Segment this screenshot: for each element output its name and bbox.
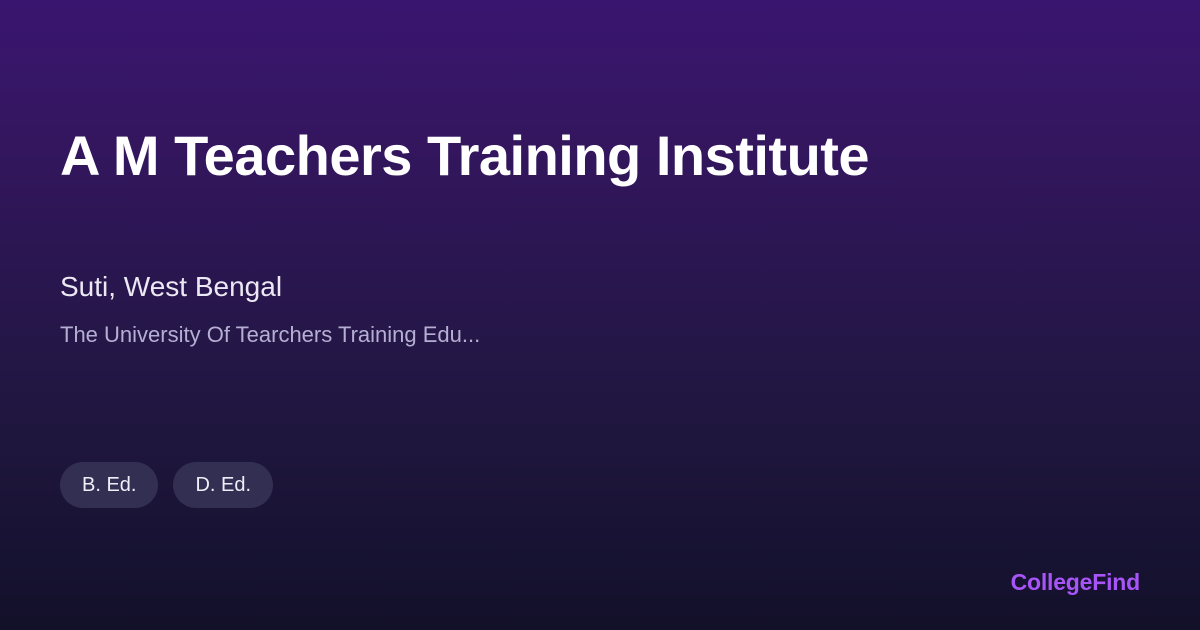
course-chips-row: B. Ed. D. Ed.	[60, 462, 273, 508]
institute-location: Suti, West Bengal	[60, 268, 1140, 306]
course-chip-d-ed[interactable]: D. Ed.	[173, 462, 273, 508]
brand-logo-text[interactable]: CollegeFind	[1011, 571, 1140, 594]
title-block: A M Teachers Training Institute	[60, 126, 1140, 186]
page-title: A M Teachers Training Institute	[60, 126, 1140, 186]
card-content-area: A M Teachers Training Institute Suti, We…	[60, 0, 1140, 630]
og-preview-card: A M Teachers Training Institute Suti, We…	[0, 0, 1200, 630]
course-chip-b-ed[interactable]: B. Ed.	[60, 462, 158, 508]
institute-meta-block: Suti, West Bengal The University Of Tear…	[60, 268, 1140, 349]
institute-description: The University Of Tearchers Training Edu…	[60, 320, 1060, 350]
